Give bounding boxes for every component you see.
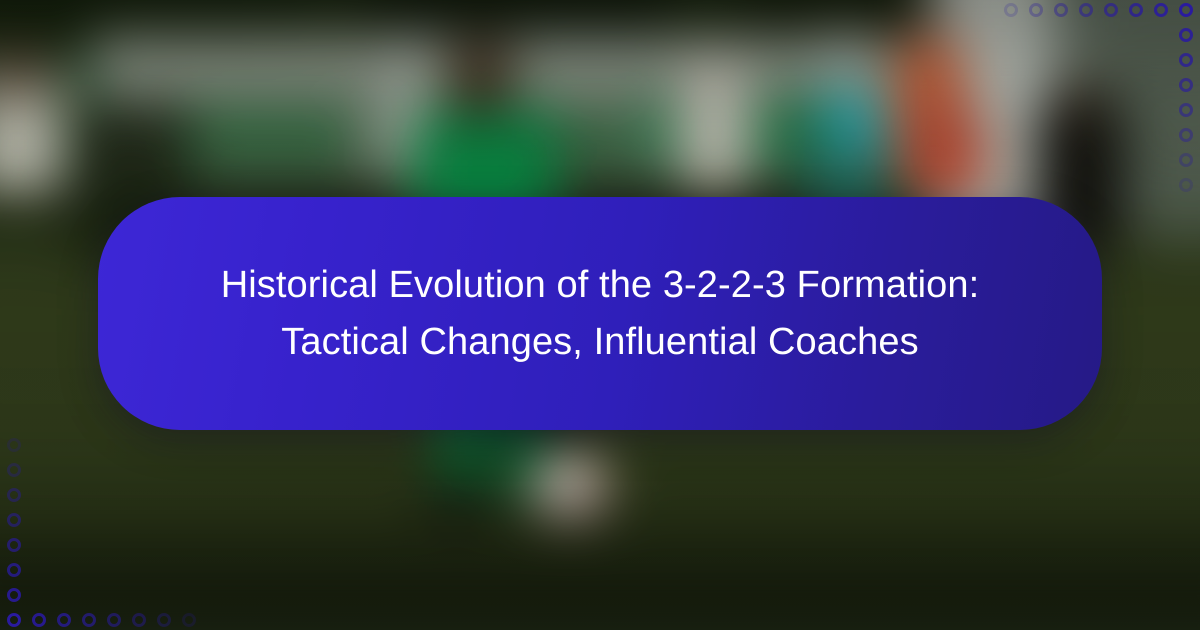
photo-spectator-red-lower: [900, 105, 985, 200]
page-title: Historical Evolution of the 3-2-2-3 Form…: [160, 257, 1040, 371]
photo-spectator-teal-head: [820, 85, 882, 155]
photo-spectator-black-head: [1058, 75, 1106, 123]
page-title-line-2: Tactical Changes, Influential Coaches: [160, 314, 1040, 371]
headline-card: Historical Evolution of the 3-2-2-3 Form…: [98, 197, 1102, 430]
photo-grass-foreground-shade: [0, 500, 1200, 630]
page-title-line-1: Historical Evolution of the 3-2-2-3 Form…: [160, 257, 1040, 314]
photo-tree-blob-center: [370, 0, 670, 40]
share-card-canvas: Historical Evolution of the 3-2-2-3 Form…: [0, 0, 1200, 630]
photo-green-board-a: [180, 100, 360, 170]
photo-spectator-pale: [675, 60, 753, 190]
photo-player-head: [445, 40, 517, 118]
